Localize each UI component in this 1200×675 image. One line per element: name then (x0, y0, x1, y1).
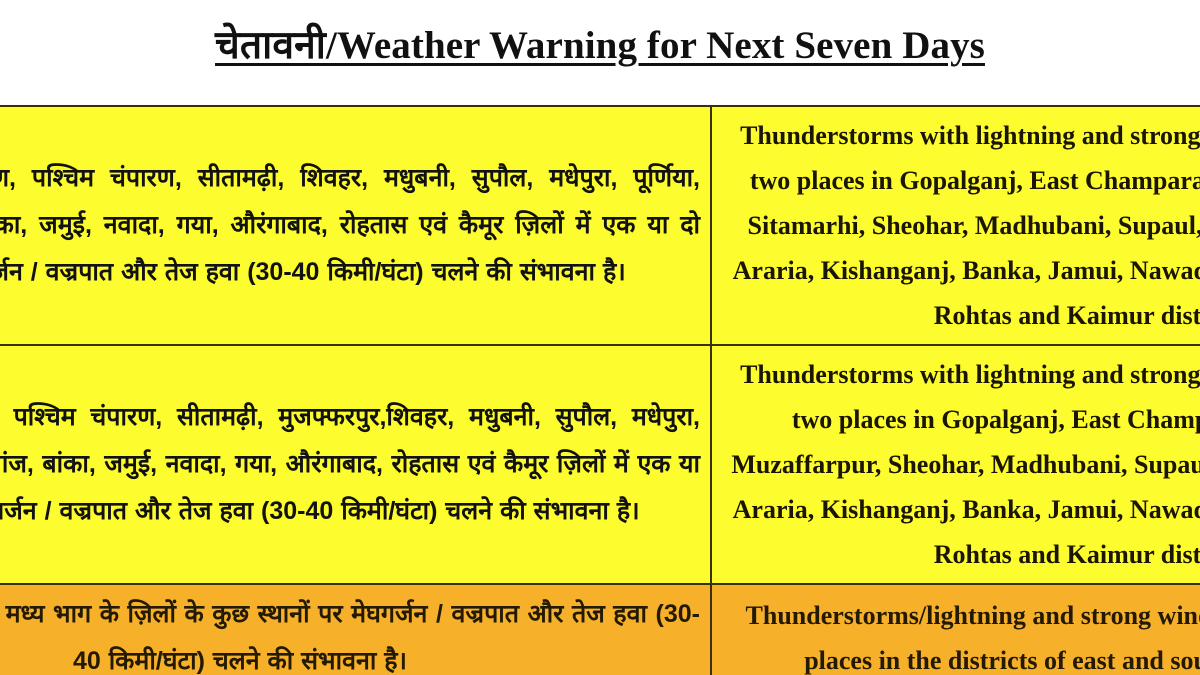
warning-text-hindi: गोपालगंज, पूर्वी चंपारण, पश्चिम चंपारण, … (0, 155, 700, 296)
warning-text-hindi: गोपालगंज,पूर्वी चंपारण, पश्चिम चंपारण, स… (0, 394, 700, 535)
warning-cell-english: Thunderstorms with lightning and strong … (711, 106, 1200, 345)
page-title-bar: चेतावनी/Weather Warning for Next Seven D… (0, 0, 1200, 92)
warning-cell-hindi: राज्य के पूर्वी एवं दक्षिण मध्य भाग के ज… (0, 584, 711, 675)
warning-text-english: Thunderstorms with lightning and strong … (722, 113, 1200, 338)
warning-text-english: Thunderstorms/lightning and strong winds… (722, 593, 1200, 675)
warning-cell-hindi: गोपालगंज,पूर्वी चंपारण, पश्चिम चंपारण, स… (0, 345, 711, 584)
page-title: चेतावनी/Weather Warning for Next Seven D… (215, 26, 985, 67)
warning-text-english: Thunderstorms with lightning and strong … (722, 352, 1200, 577)
weather-warning-table: गोपालगंज, पूर्वी चंपारण, पश्चिम चंपारण, … (0, 105, 1200, 675)
warning-cell-english: Thunderstorms/lightning and strong winds… (711, 584, 1200, 675)
table-row: गोपालगंज, पूर्वी चंपारण, पश्चिम चंपारण, … (0, 106, 1200, 345)
warning-cell-hindi: गोपालगंज, पूर्वी चंपारण, पश्चिम चंपारण, … (0, 106, 711, 345)
table-row: राज्य के पूर्वी एवं दक्षिण मध्य भाग के ज… (0, 584, 1200, 675)
weather-warning-page: चेतावनी/Weather Warning for Next Seven D… (0, 0, 1200, 675)
warning-cell-english: Thunderstorms with lightning and strong … (711, 345, 1200, 584)
warning-text-hindi: राज्य के पूर्वी एवं दक्षिण मध्य भाग के ज… (0, 591, 700, 675)
table-row: गोपालगंज,पूर्वी चंपारण, पश्चिम चंपारण, स… (0, 345, 1200, 584)
